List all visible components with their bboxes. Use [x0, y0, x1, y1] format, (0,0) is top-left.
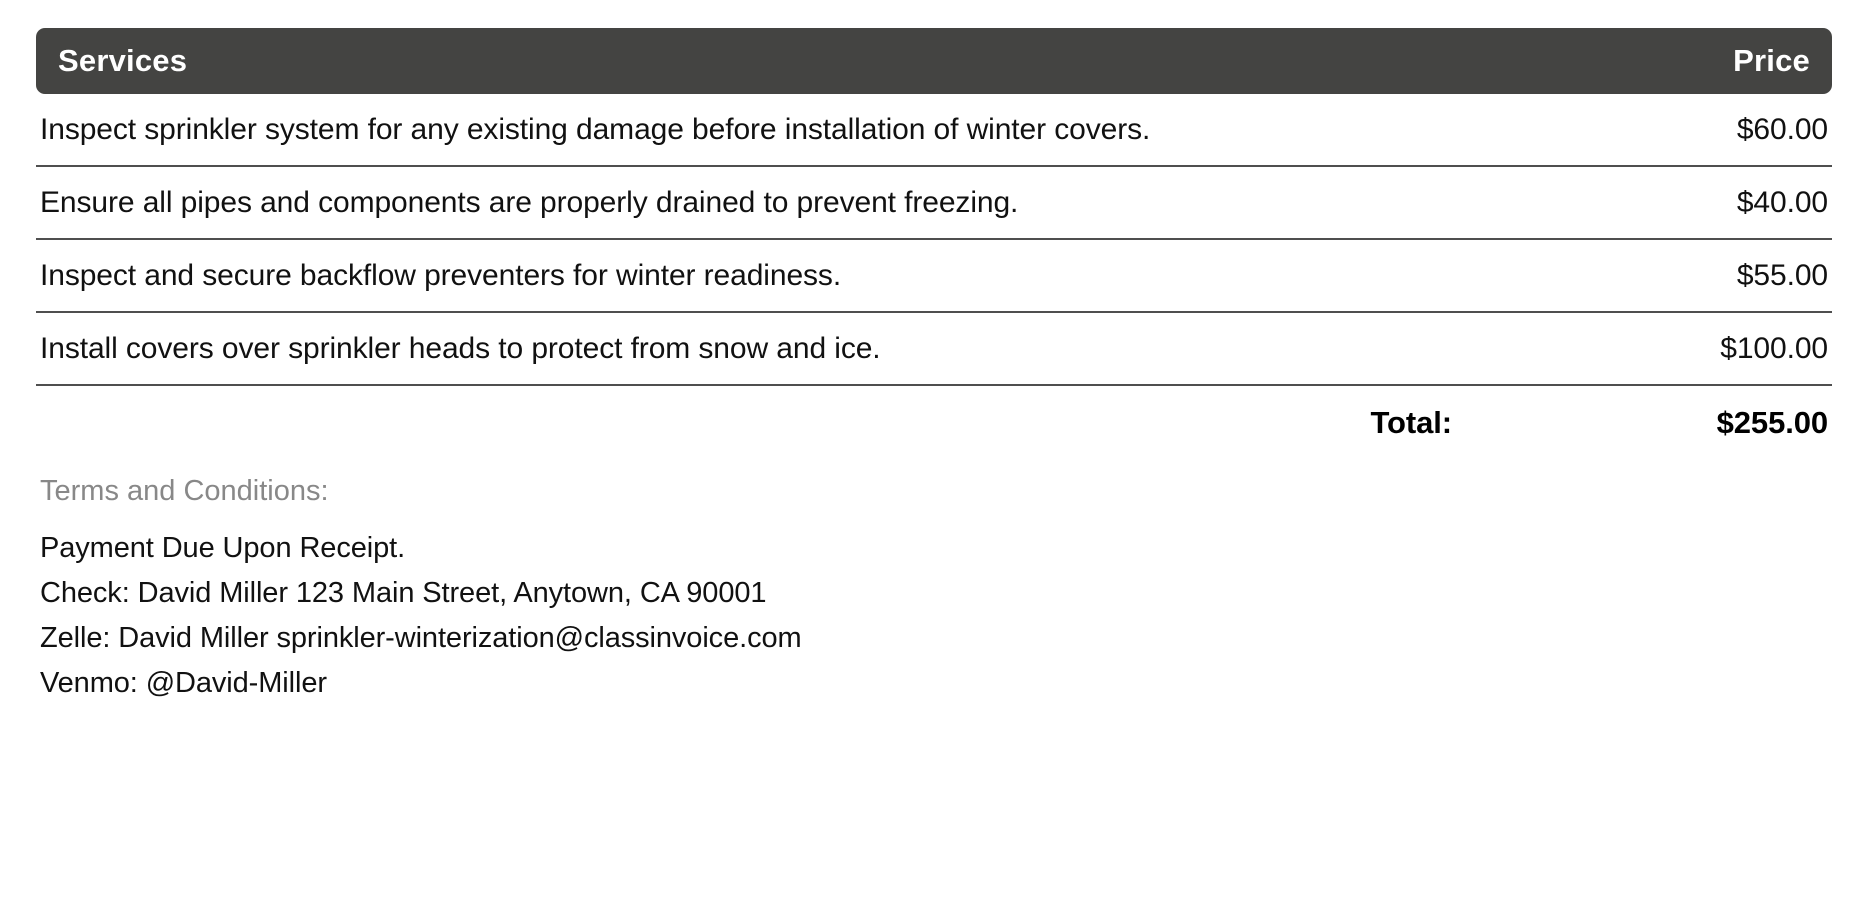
terms-and-conditions-section: Terms and Conditions: Payment Due Upon R… [36, 477, 1832, 706]
services-table-header: Services Price [36, 28, 1832, 94]
service-price: $60.00 [1512, 94, 1832, 166]
terms-line-zelle: Zelle: David Miller sprinkler-winterizat… [40, 616, 1832, 661]
table-header-row: Services Price [36, 28, 1832, 94]
service-price: $40.00 [1512, 166, 1832, 239]
service-price: $100.00 [1512, 312, 1832, 385]
terms-line-check: Check: David Miller 123 Main Street, Any… [40, 571, 1832, 616]
service-description: Install covers over sprinkler heads to p… [36, 312, 1512, 385]
service-price: $55.00 [1512, 239, 1832, 312]
table-row: Ensure all pipes and components are prop… [36, 166, 1832, 239]
service-description: Ensure all pipes and components are prop… [36, 166, 1512, 239]
service-description: Inspect sprinkler system for any existin… [36, 94, 1512, 166]
services-table: Services Price Inspect sprinkler system … [36, 28, 1832, 459]
invoice-services-page: Services Price Inspect sprinkler system … [0, 28, 1868, 898]
table-row: Inspect sprinkler system for any existin… [36, 94, 1832, 166]
column-header-price: Price [1512, 28, 1832, 94]
service-description: Inspect and secure backflow preventers f… [36, 239, 1512, 312]
services-table-body: Inspect sprinkler system for any existin… [36, 94, 1832, 459]
terms-title: Terms and Conditions: [40, 477, 1832, 506]
table-row: Inspect and secure backflow preventers f… [36, 239, 1832, 312]
terms-line-payment-due: Payment Due Upon Receipt. [40, 526, 1832, 571]
total-label: Total: [36, 385, 1512, 459]
column-header-services: Services [36, 28, 1512, 94]
table-row: Install covers over sprinkler heads to p… [36, 312, 1832, 385]
table-total-row: Total: $255.00 [36, 385, 1832, 459]
terms-line-venmo: Venmo: @David-Miller [40, 661, 1832, 706]
total-value: $255.00 [1512, 385, 1832, 459]
